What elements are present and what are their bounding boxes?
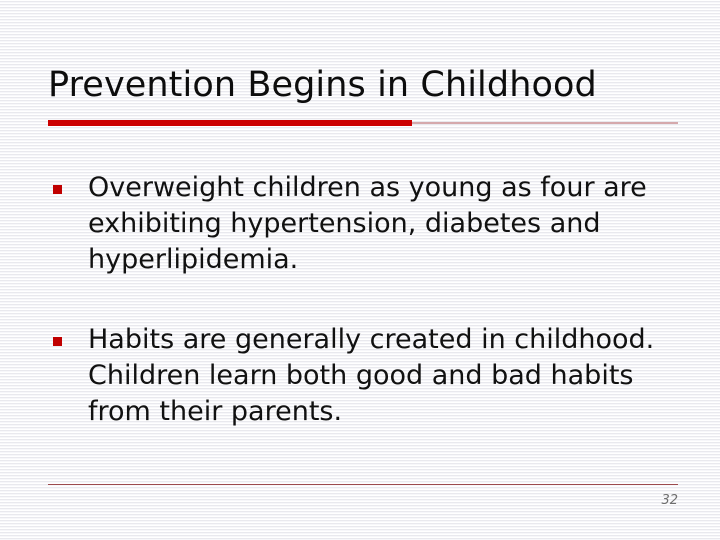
red-square-bullet-icon [53, 185, 62, 194]
list-item: Habits are generally created in childhoo… [48, 322, 680, 430]
title-divider-accent-bar [48, 120, 412, 126]
page-title: Prevention Begins in Childhood [48, 62, 680, 108]
list-item: Overweight children as young as four are… [48, 170, 680, 278]
red-square-bullet-icon [53, 337, 62, 346]
list-item-text: Overweight children as young as four are… [88, 170, 680, 278]
slide-canvas: Prevention Begins in Childhood Overweigh… [0, 0, 720, 540]
list-item-text: Habits are generally created in childhoo… [88, 322, 680, 430]
title-divider [48, 120, 678, 126]
bullet-list: Overweight children as young as four are… [48, 170, 680, 430]
footer-divider [48, 484, 678, 485]
page-number: 32 [661, 493, 678, 509]
title-block: Prevention Begins in Childhood [48, 62, 680, 108]
